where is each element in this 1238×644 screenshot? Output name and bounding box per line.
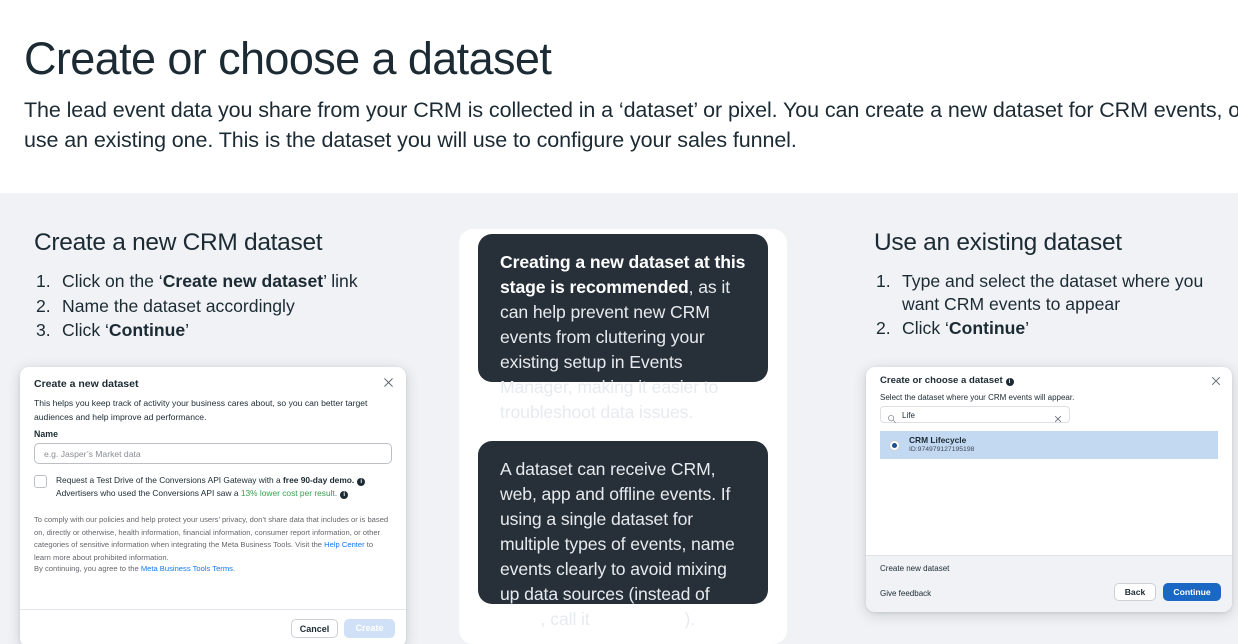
- step-number: 2.: [36, 295, 62, 318]
- search-icon: [887, 411, 897, 421]
- dialog-description: This helps you keep track of activity yo…: [34, 397, 386, 425]
- dataset-option-row[interactable]: CRM Lifecycle ID:974979127195198: [880, 431, 1218, 459]
- list-item: 3. Click ‘Continue’: [36, 319, 416, 342]
- name-input-placeholder: e.g. Jasper’s Market data: [44, 449, 141, 459]
- callout-card-recommended: Creating a new dataset at this stage is …: [478, 234, 768, 382]
- dialog-footer: Create new dataset Give feedback Back Co…: [866, 555, 1232, 612]
- cancel-button[interactable]: Cancel: [291, 619, 338, 638]
- close-icon[interactable]: [382, 376, 395, 389]
- test-drive-label: Request a Test Drive of the Conversions …: [56, 474, 394, 501]
- right-column-heading: Use an existing dataset: [874, 229, 1122, 257]
- callout-part-2: , call it: [541, 609, 595, 629]
- step-number: 2.: [876, 317, 902, 340]
- callout-bold-lead: Lead: [500, 609, 541, 629]
- name-input[interactable]: e.g. Jasper’s Market data: [34, 443, 392, 464]
- header-section: Create or choose a dataset The lead even…: [0, 0, 1238, 193]
- name-field-label: Name: [34, 429, 58, 439]
- info-icon[interactable]: i: [357, 478, 365, 486]
- slide-root: Create or choose a dataset The lead even…: [0, 0, 1238, 644]
- clear-icon[interactable]: [1053, 411, 1063, 421]
- test-drive-checkbox[interactable]: [34, 475, 47, 488]
- create-button[interactable]: Create: [344, 619, 395, 638]
- legal-text-terms: By continuing, you agree to the Meta Bus…: [34, 563, 392, 576]
- page-title: Create or choose a dataset: [24, 34, 551, 84]
- test-drive-checkbox-row[interactable]: Request a Test Drive of the Conversions …: [34, 474, 394, 501]
- list-item: 1. Type and select the dataset where you…: [876, 270, 1206, 315]
- legal-text-privacy: To comply with our policies and help pro…: [34, 514, 392, 564]
- list-item: 2. Name the dataset accordingly: [36, 295, 416, 318]
- dialog-title: Create or choose a dataseti: [880, 375, 1014, 386]
- page-subtitle: The lead event data you share from your …: [24, 96, 1238, 155]
- step-text: Click ‘Continue’: [62, 319, 416, 342]
- help-center-link[interactable]: Help Center: [324, 540, 365, 549]
- step-text: Click on the ‘Create new dataset’ link: [62, 270, 416, 293]
- dataset-name: CRM Lifecycle: [909, 435, 974, 446]
- step-number: 3.: [36, 319, 62, 342]
- info-icon[interactable]: i: [1006, 378, 1014, 386]
- close-icon[interactable]: [1210, 374, 1222, 386]
- dialog-title: Create a new dataset: [34, 378, 138, 390]
- business-tools-terms-link[interactable]: Meta Business Tools Terms.: [141, 564, 235, 573]
- step-number: 1.: [876, 270, 902, 315]
- search-input-value: Life: [902, 411, 915, 420]
- dialog-subtitle: Select the dataset where your CRM events…: [880, 393, 1074, 402]
- dataset-id: ID:974979127195198: [909, 446, 974, 455]
- step-number: 1.: [36, 270, 62, 293]
- right-column-steps: 1. Type and select the dataset where you…: [876, 270, 1206, 342]
- dataset-option-labels: CRM Lifecycle ID:974979127195198: [909, 435, 974, 455]
- dialog-footer: Cancel Create: [20, 609, 406, 644]
- dataset-search-input[interactable]: Life: [880, 406, 1070, 423]
- give-feedback-link[interactable]: Give feedback: [880, 589, 931, 598]
- callout-part-3: ).: [685, 609, 696, 629]
- create-dataset-dialog-screenshot: Create a new dataset This helps you keep…: [20, 367, 406, 644]
- step-text: Type and select the dataset where you wa…: [902, 270, 1206, 315]
- step-text: Name the dataset accordingly: [62, 295, 416, 318]
- callout-card-naming: A dataset can receive CRM, web, app and …: [478, 441, 768, 604]
- choose-dataset-dialog-screenshot: Create or choose a dataseti Select the d…: [866, 367, 1232, 612]
- info-icon[interactable]: i: [340, 491, 348, 499]
- left-column-heading: Create a new CRM dataset: [34, 229, 322, 257]
- step-text: Click ‘Continue’: [902, 317, 1206, 340]
- create-new-dataset-link[interactable]: Create new dataset: [880, 564, 949, 573]
- radio-button[interactable]: [889, 440, 900, 451]
- back-button[interactable]: Back: [1114, 583, 1156, 601]
- callout-part-1: A dataset can receive CRM, web, app and …: [500, 459, 735, 604]
- list-item: 1. Click on the ‘Create new dataset’ lin…: [36, 270, 416, 293]
- left-column-steps: 1. Click on the ‘Create new dataset’ lin…: [36, 270, 416, 344]
- list-item: 2. Click ‘Continue’: [876, 317, 1206, 340]
- continue-button[interactable]: Continue: [1163, 583, 1221, 601]
- callout-bold-crmlead: CRM_Lead: [594, 609, 684, 629]
